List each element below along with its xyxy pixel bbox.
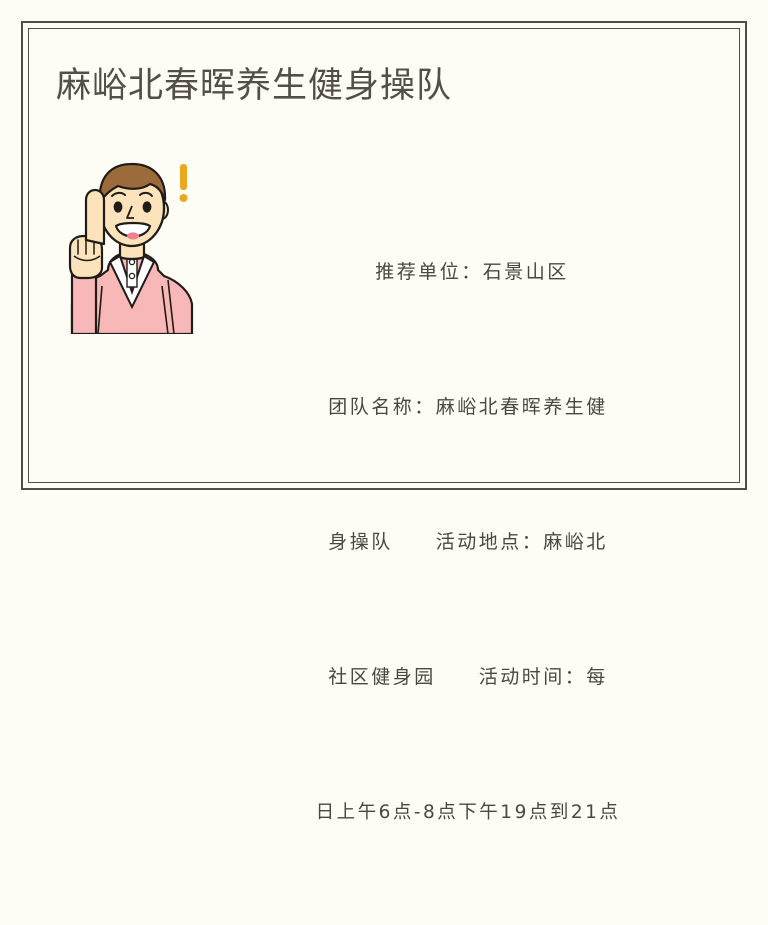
note-line-5: 日上午6点-8点下午19点到21点 [218,790,718,835]
note-line-4: 社区健身园 活动时间：每 [218,655,718,700]
exclamation-icon [180,164,188,202]
page-title: 麻峪北春晖养生健身操队 [56,64,452,108]
poster-page: 麻峪北春晖养生健身操队 [0,0,768,510]
note-line-3: 身操队 活动地点：麻峪北 [218,520,718,565]
pointing-man-illustration [62,152,202,334]
note-line-2: 团队名称：麻峪北春晖养生健 [218,385,718,430]
content-area: 推荐单位：石景山区 团队名称：麻峪北春晖养生健 身操队 活动地点：麻峪北 社区健… [28,140,740,370]
activity-note: 推荐单位：石景山区 团队名称：麻峪北春晖养生健 身操队 活动地点：麻峪北 社区健… [218,160,718,925]
note-line-1: 推荐单位：石景山区 [218,250,718,295]
